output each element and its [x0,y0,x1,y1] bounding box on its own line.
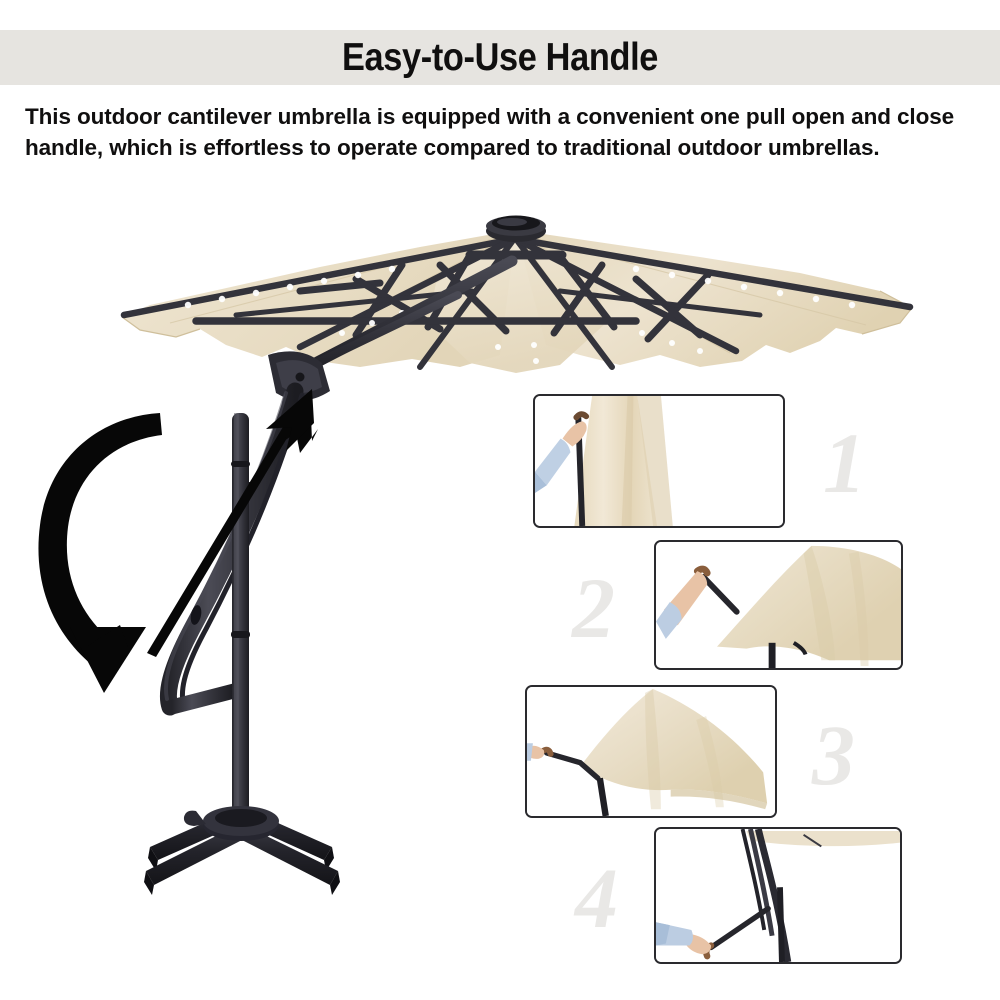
description-text: This outdoor cantilever umbrella is equi… [25,101,980,163]
solar-led-hub [486,216,546,243]
step-number-1: 1 [823,420,866,506]
step-panel-2[interactable] [654,540,903,670]
step-panel-4[interactable] [654,827,902,964]
step-panel-1[interactable] [533,394,785,528]
step-panel-3[interactable] [525,685,777,818]
page-title: Easy-to-Use Handle [60,31,940,84]
step-number-2: 2 [572,565,615,651]
tilt-rotation-arrow [38,413,162,693]
umbrella-mast [231,413,250,813]
step-number-3: 3 [812,712,855,798]
infographic-page: Easy-to-Use Handle This outdoor cantilev… [0,0,1000,1000]
step-number-4: 4 [575,855,618,941]
umbrella-cross-base [144,806,340,895]
